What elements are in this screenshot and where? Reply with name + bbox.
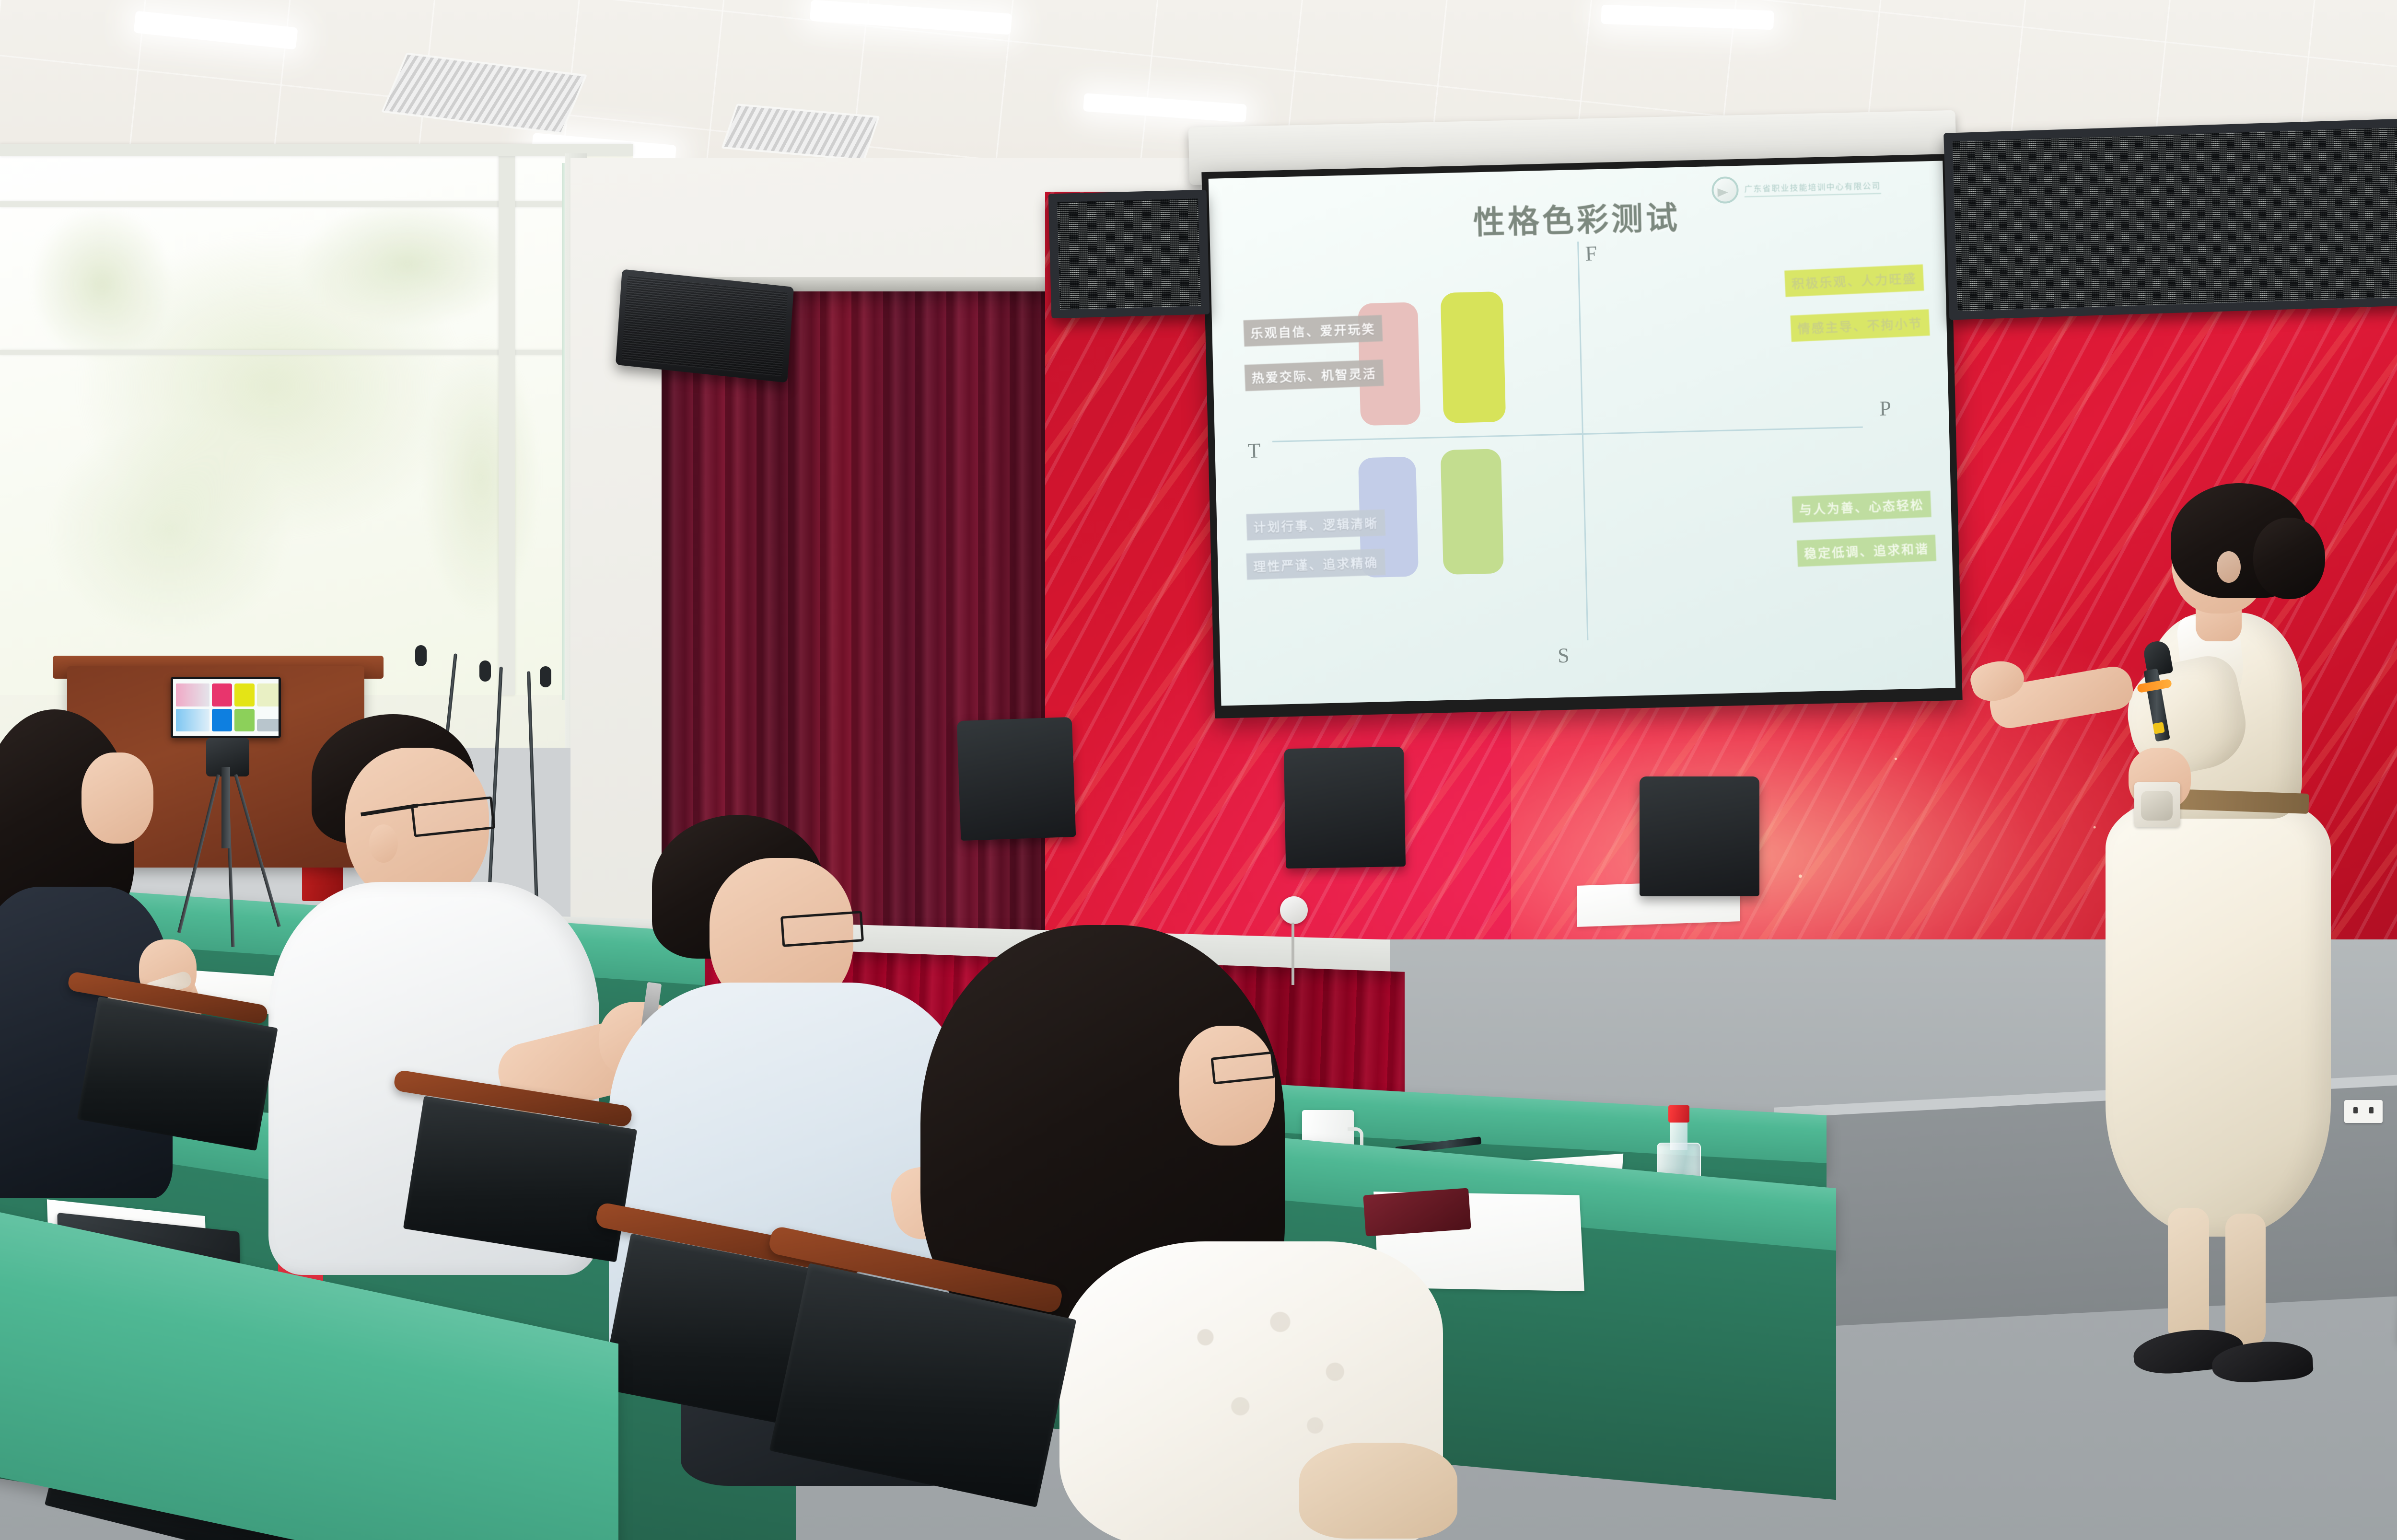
label-topright-2: 情感主导、不拘小节	[1790, 309, 1930, 342]
axis-label-p: P	[1879, 396, 1892, 421]
attendee4-leg	[1299, 1443, 1457, 1539]
acoustic-panel-mesh-right	[1953, 127, 2397, 311]
label-topright-1: 积极乐观、人力旺盛	[1784, 265, 1924, 297]
label-topleft-2: 热爱交际、机智灵活	[1245, 359, 1384, 391]
stage-chair-2[interactable]	[1284, 747, 1406, 868]
attendee4-face	[1179, 1026, 1275, 1146]
attendee3-glasses	[780, 911, 864, 947]
microphone-indicator-led	[2153, 722, 2164, 734]
label-botright-1: 与人为善、心态轻松	[1792, 491, 1932, 523]
speaker-grille	[622, 276, 788, 377]
presenter-skirt	[2106, 796, 2331, 1237]
pm-swatch-yellow	[234, 683, 255, 706]
attendee1-face	[81, 753, 153, 844]
label-topleft-1: 乐观自信、爱开玩笑	[1244, 315, 1383, 347]
presenter-watch-face	[2141, 791, 2173, 821]
stage-chair-3[interactable]	[1640, 776, 1759, 896]
presenter-leg-left	[2168, 1208, 2209, 1342]
axis-label-t: T	[1247, 438, 1261, 463]
conference-room-photo: 广东省职业技能培训中心有限公司 性格色彩测试 F P T S 乐观自信、爱开玩笑…	[0, 0, 2397, 1540]
axis-label-s: S	[1558, 643, 1570, 668]
mic-capsule-1	[415, 645, 427, 666]
projected-slide: 广东省职业技能培训中心有限公司 性格色彩测试 F P T S 乐观自信、爱开玩笑…	[1209, 161, 1955, 706]
label-botleft-2: 理性严谨、追求精确	[1246, 549, 1385, 580]
label-botright-2: 稳定低调、追求和谐	[1797, 535, 1936, 567]
quadrant-yellow	[1441, 291, 1506, 423]
label-botleft-1: 计划行事、逻辑清晰	[1246, 509, 1385, 541]
axis-label-f: F	[1585, 241, 1597, 266]
slide-axis-vertical	[1577, 242, 1588, 640]
presenter	[2100, 460, 2397, 1400]
mic-capsule-3	[540, 666, 551, 687]
projection-screen: 广东省职业技能培训中心有限公司 性格色彩测试 F P T S 乐观自信、爱开玩笑…	[1201, 154, 1962, 718]
slide-axis-horizontal	[1272, 427, 1863, 442]
table-skirt-clip	[1280, 896, 1308, 924]
acoustic-panel-right	[1943, 118, 2397, 320]
attendee2-ear	[369, 824, 398, 863]
presenter-hair-bun	[2253, 518, 2325, 599]
presenter-leg-right	[2225, 1214, 2266, 1346]
acoustic-panel-mesh	[1057, 198, 1201, 310]
slide-title: 性格色彩测试	[1209, 185, 1944, 249]
pm-swatch-green	[234, 709, 255, 732]
tripod-center-column	[221, 767, 230, 848]
attendee-woman-dark-top	[0, 700, 221, 1227]
acoustic-panel-left	[1048, 190, 1210, 319]
pm-swatch-palegreen	[257, 683, 279, 706]
mic-capsule-2	[479, 660, 491, 682]
quadrant-green	[1441, 449, 1504, 575]
wall-speaker-left	[616, 269, 794, 382]
presenter-ear	[2217, 551, 2241, 583]
